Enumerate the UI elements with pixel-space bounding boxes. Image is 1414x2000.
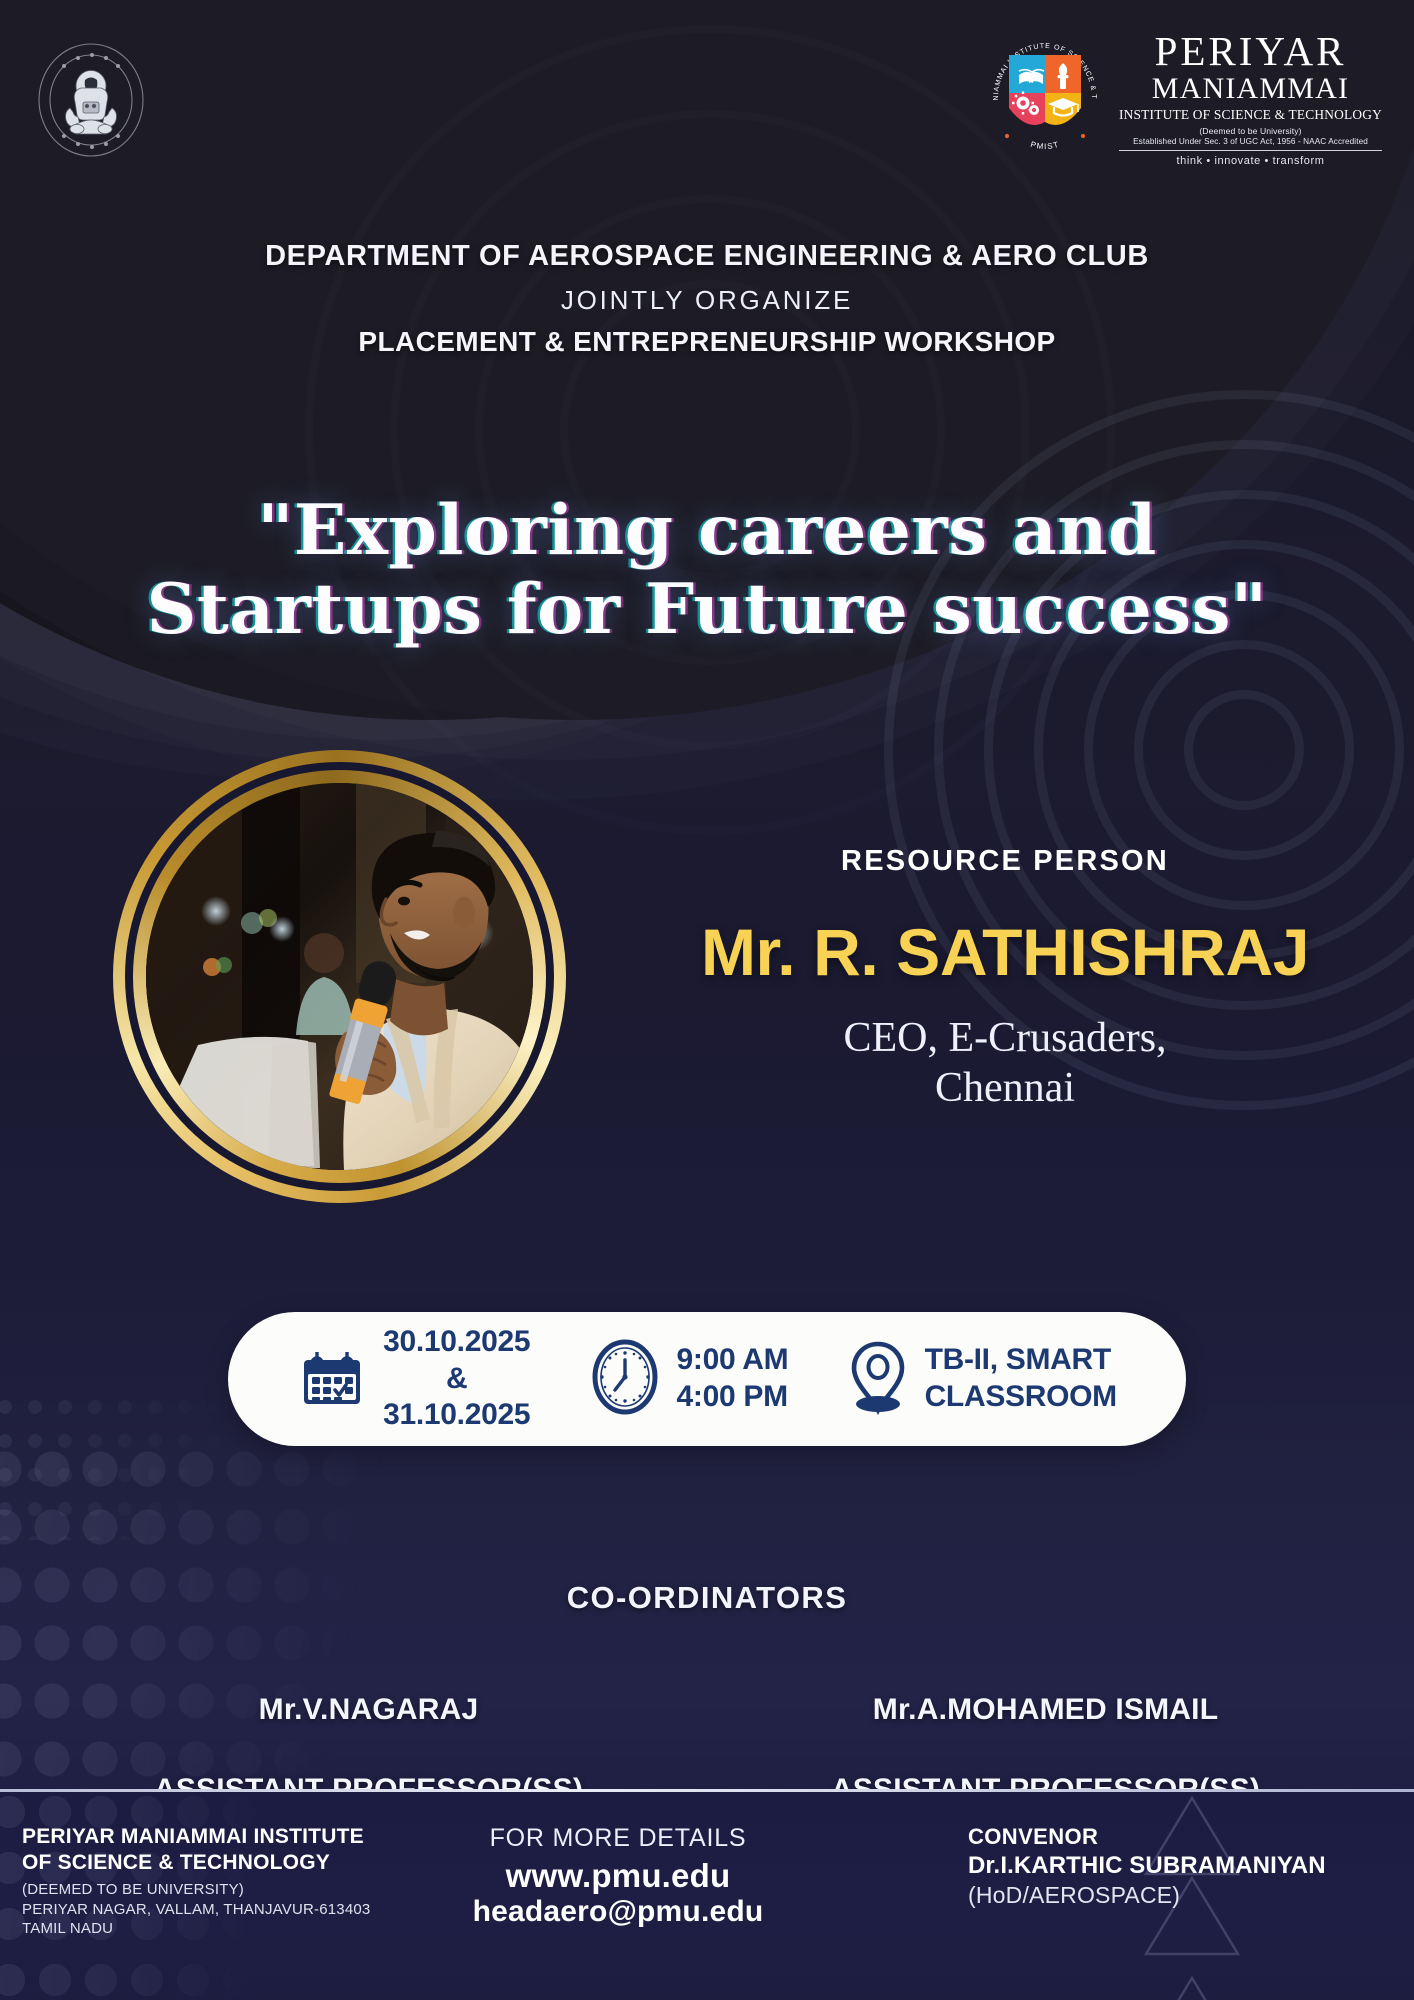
event-time-item: 9:00 AM 4:00 PM	[589, 1338, 789, 1421]
footer-institute-address: (DEEMED TO BE UNIVERSITY) PERIYAR NAGAR,…	[22, 1880, 422, 1939]
event-details-bar: 30.10.2025 & 31.10.2025	[228, 1312, 1186, 1446]
coordinator-2-name: Mr.A.MOHAMED ISMAIL	[831, 1690, 1260, 1730]
aero-club-logo	[30, 36, 152, 164]
svg-text:PMIST: PMIST	[1030, 140, 1061, 151]
footer-convenor-block: CONVENOR Dr.I.KARTHIC SUBRAMANIYAN (HoD/…	[968, 1824, 1398, 1909]
event-date-text: 30.10.2025 & 31.10.2025	[383, 1324, 530, 1434]
pmist-shield-logo: PERIYAR MANIAMMAI INSTITUTE OF SCIENCE &…	[985, 30, 1105, 160]
speaker-photo	[146, 783, 533, 1170]
institute-deemed-note: (Deemed to be University)	[1113, 126, 1388, 136]
event-venue-item: TB-II, SMART CLASSROOM	[847, 1338, 1117, 1421]
resource-person-role: CEO, E-Crusaders, Chennai	[596, 1014, 1414, 1113]
resource-person-block: RESOURCE PERSON Mr. R. SATHISHRAJ CEO, E…	[596, 845, 1414, 1113]
footer: PERIYAR MANIAMMAI INSTITUTE OF SCIENCE &…	[0, 1792, 1414, 2000]
header-jointly-organize: JOINTLY ORGANIZE	[0, 285, 1414, 316]
header-workshop-line: PLACEMENT & ENTREPRENEURSHIP WORKSHOP	[0, 326, 1414, 358]
institute-established-note: Established Under Sec. 3 of UGC Act, 195…	[1113, 137, 1388, 146]
coordinator-1-name: Mr.V.NAGARAJ	[154, 1690, 583, 1730]
institute-name-line3: INSTITUTE OF SCIENCE & TECHNOLOGY	[1113, 107, 1388, 123]
header-block: DEPARTMENT OF AEROSPACE ENGINEERING & AE…	[0, 240, 1414, 358]
event-date-item: 30.10.2025 & 31.10.2025	[297, 1324, 530, 1434]
page-title: "Exploring careers and Startups for Futu…	[0, 492, 1414, 649]
institute-wordmark: PERIYAR MANIAMMAI INSTITUTE OF SCIENCE &…	[1113, 32, 1388, 167]
footer-convenor-name: Dr.I.KARTHIC SUBRAMANIYAN	[968, 1852, 1398, 1880]
institute-name-line2: MANIAMMAI	[1113, 73, 1388, 105]
footer-contact-block: FOR MORE DETAILS www.pmu.edu headaero@pm…	[438, 1824, 798, 1929]
poster-root: PERIYAR MANIAMMAI INSTITUTE OF SCIENCE &…	[0, 0, 1414, 2000]
title-line-2: Startups for Future success"	[0, 571, 1414, 650]
footer-convenor-label: CONVENOR	[968, 1824, 1398, 1850]
coordinators-heading: CO-ORDINATORS	[0, 1580, 1414, 1616]
header-department-line: DEPARTMENT OF AEROSPACE ENGINEERING & AE…	[0, 240, 1414, 273]
institute-tagline: think • innovate • transform	[1113, 155, 1388, 167]
event-venue-text: TB-II, SMART CLASSROOM	[925, 1342, 1117, 1415]
footer-institute-block: PERIYAR MANIAMMAI INSTITUTE OF SCIENCE &…	[22, 1824, 422, 1939]
footer-convenor-dept: (HoD/AEROSPACE)	[968, 1882, 1398, 1909]
footer-more-details-label: FOR MORE DETAILS	[438, 1824, 798, 1853]
resource-person-label: RESOURCE PERSON	[596, 845, 1414, 878]
clock-icon	[589, 1338, 661, 1421]
wordmark-divider	[1119, 150, 1382, 151]
footer-email-link[interactable]: headaero@pmu.edu	[438, 1895, 798, 1929]
event-time-text: 9:00 AM 4:00 PM	[677, 1342, 789, 1415]
resource-person-role-line2: Chennai	[596, 1064, 1414, 1114]
institute-name-line1: PERIYAR	[1113, 32, 1388, 71]
footer-institute-name: PERIYAR MANIAMMAI INSTITUTE OF SCIENCE &…	[22, 1824, 422, 1875]
footer-website-link[interactable]: www.pmu.edu	[438, 1857, 798, 1895]
resource-person-role-line1: CEO, E-Crusaders,	[596, 1014, 1414, 1064]
speaker-portrait	[113, 750, 566, 1203]
resource-person-name: Mr. R. SATHISHRAJ	[596, 914, 1414, 990]
title-line-1: "Exploring careers and	[0, 492, 1414, 571]
location-pin-icon	[847, 1338, 909, 1421]
calendar-icon	[297, 1342, 367, 1417]
